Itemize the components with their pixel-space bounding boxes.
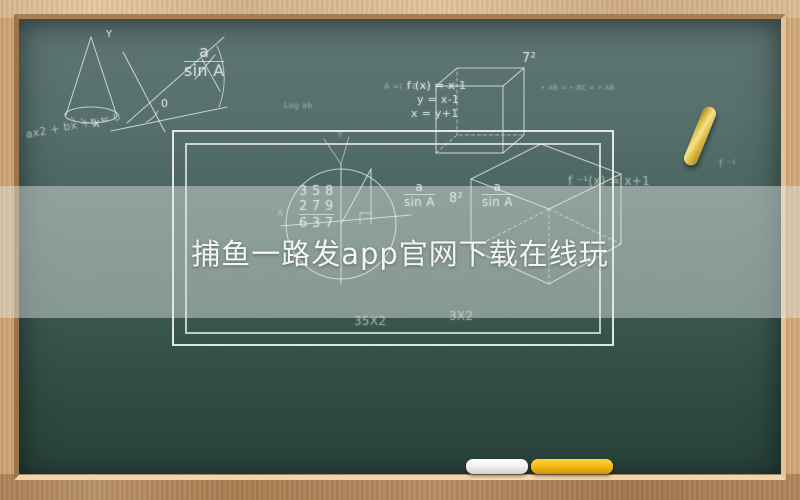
inverse-f-right: f ⁻¹ bbox=[719, 159, 736, 170]
seven-squared: 7² bbox=[522, 51, 536, 66]
function-y: y = x-1 bbox=[417, 93, 459, 106]
yellow-chalk-piece[interactable] bbox=[531, 459, 613, 474]
angle-theta-left: 0 bbox=[161, 97, 168, 110]
screenshot-root: a sin A ax2 + bx +c = 0 Y X 0 f (x) = x-… bbox=[0, 0, 800, 500]
axis-label-x-left: X bbox=[93, 119, 100, 130]
fraction-numerator: a bbox=[184, 44, 224, 61]
fraction-denominator: sin A bbox=[184, 61, 224, 80]
matrix-row: A =( ) B =( ) I =( ) bbox=[384, 82, 463, 91]
page-title: 捕鱼一路发app官网下载在线玩 bbox=[191, 231, 609, 273]
white-chalk-piece[interactable] bbox=[466, 459, 528, 474]
vector-identity: • AB = • BC = • AB bbox=[541, 84, 615, 92]
function-x: x = y+1 bbox=[411, 107, 459, 120]
axis-label-y-left: Y bbox=[106, 29, 112, 40]
law-of-sines-top: a sin A bbox=[184, 44, 224, 80]
cone-figure bbox=[65, 37, 117, 123]
log-ab: Log ab bbox=[284, 101, 313, 110]
title-banner: 捕鱼一路发app官网下载在线玩 bbox=[0, 186, 800, 318]
